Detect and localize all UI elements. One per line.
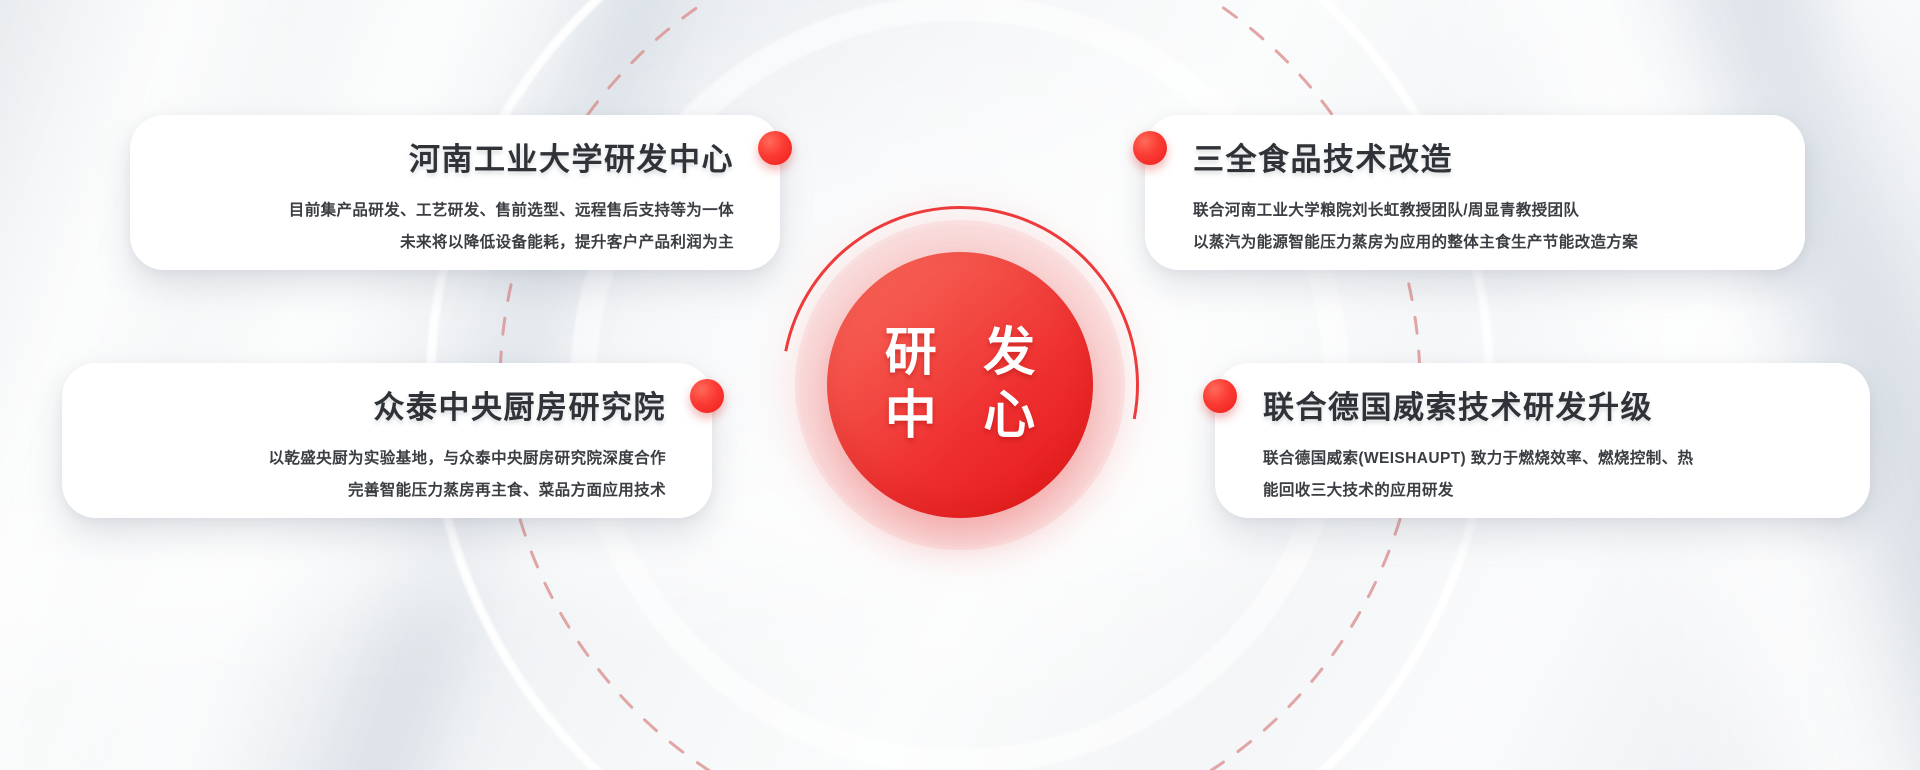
red-dot-icon: [690, 379, 724, 413]
card-henan-university[interactable]: 河南工业大学研发中心 目前集产品研发、工艺研发、售前选型、远程售后支持等为一体 …: [130, 115, 780, 270]
center-label-line1: 研 发: [869, 322, 1051, 385]
card-zhongtai-kitchen[interactable]: 众泰中央厨房研究院 以乾盛央厨为实验基地，与众泰中央厨房研究院深度合作 完善智能…: [62, 363, 712, 518]
card-line-1: 联合河南工业大学粮院刘长虹教授团队/周显青教授团队: [1193, 195, 1805, 227]
card-line-1: 以乾盛央厨为实验基地，与众泰中央厨房研究院深度合作: [62, 443, 666, 475]
red-dot-icon: [1133, 131, 1167, 165]
card-weishaupt[interactable]: 联合德国威索技术研发升级 联合德国威索(WEISHAUPT) 致力于燃烧效率、燃…: [1215, 363, 1870, 518]
infographic-stage: 研 发 中 心 河南工业大学研发中心 目前集产品研发、工艺研发、售前选型、远程售…: [0, 0, 1920, 770]
card-line-2: 未来将以降低设备能耗，提升客户产品利润为主: [130, 227, 734, 259]
center-red-circle: 研 发 中 心: [827, 252, 1093, 518]
card-line-1: 目前集产品研发、工艺研发、售前选型、远程售后支持等为一体: [130, 195, 734, 227]
card-line-1: 联合德国威索(WEISHAUPT) 致力于燃烧效率、燃烧控制、热: [1263, 443, 1870, 475]
red-dot-icon: [1203, 379, 1237, 413]
card-title: 三全食品技术改造: [1193, 141, 1805, 178]
center-label-line2: 中 心: [869, 385, 1051, 448]
card-line-2: 完善智能压力蒸房再主食、菜品方面应用技术: [62, 475, 666, 507]
red-dot-icon: [758, 131, 792, 165]
card-title: 河南工业大学研发中心: [130, 141, 734, 178]
card-line-2: 能回收三大技术的应用研发: [1263, 475, 1870, 507]
card-line-2: 以蒸汽为能源智能压力蒸房为应用的整体主食生产节能改造方案: [1193, 227, 1805, 259]
center-emblem: 研 发 中 心: [750, 175, 1170, 595]
card-sanquan-food[interactable]: 三全食品技术改造 联合河南工业大学粮院刘长虹教授团队/周显青教授团队 以蒸汽为能…: [1145, 115, 1805, 270]
card-title: 联合德国威索技术研发升级: [1263, 389, 1870, 426]
card-title: 众泰中央厨房研究院: [62, 389, 666, 426]
